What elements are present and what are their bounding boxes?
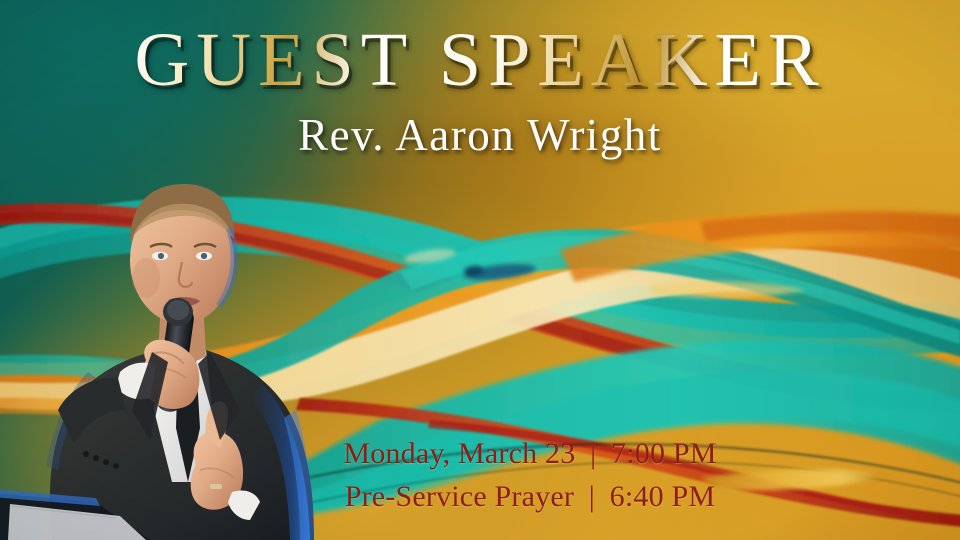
detail-separator: |	[583, 432, 603, 475]
prayer-time-value: 6:40 PM	[610, 480, 716, 513]
event-details: Monday, March 23 | 7:00 PM Pre-Service P…	[330, 432, 730, 518]
guest-speaker-poster: GUEST SPEAKER GUEST SPEAKER Rev. Aaron W…	[0, 0, 960, 540]
page-title: GUEST SPEAKER	[0, 22, 960, 98]
event-detail-line-1: Monday, March 23 | 7:00 PM	[330, 432, 730, 475]
speaker-photo	[0, 110, 360, 540]
event-time-value: 7:00 PM	[611, 437, 717, 470]
event-detail-line-2: Pre-Service Prayer | 6:40 PM	[330, 475, 730, 518]
event-date-label: Monday, March 23	[343, 437, 575, 470]
detail-separator: |	[582, 475, 602, 518]
speaker-name: Rev. Aaron Wright	[0, 113, 960, 158]
prayer-label: Pre-Service Prayer	[345, 480, 574, 513]
